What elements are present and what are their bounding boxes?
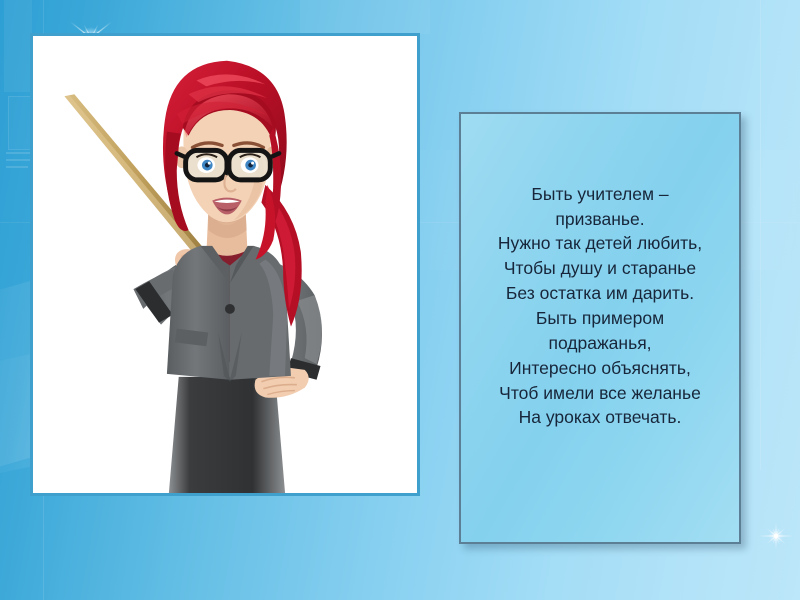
eye-right [241,157,259,173]
teacher-image-frame [30,33,420,496]
background-decor-line [760,0,761,470]
poem-text: Быть учителем – призванье. Нужно так дет… [461,182,739,430]
background-decor-rectangle [8,96,32,150]
background-decor-line [6,166,28,168]
slide-canvas: Быть учителем – призванье. Нужно так дет… [0,0,800,600]
background-decor-rectangle [300,0,430,34]
background-decor-rectangle [4,0,32,92]
poem-text-panel: Быть учителем – призванье. Нужно так дет… [459,112,741,544]
jacket-button [225,304,235,314]
sparkle-icon [756,518,800,558]
eye-left [197,157,215,173]
teacher-illustration [33,36,417,493]
